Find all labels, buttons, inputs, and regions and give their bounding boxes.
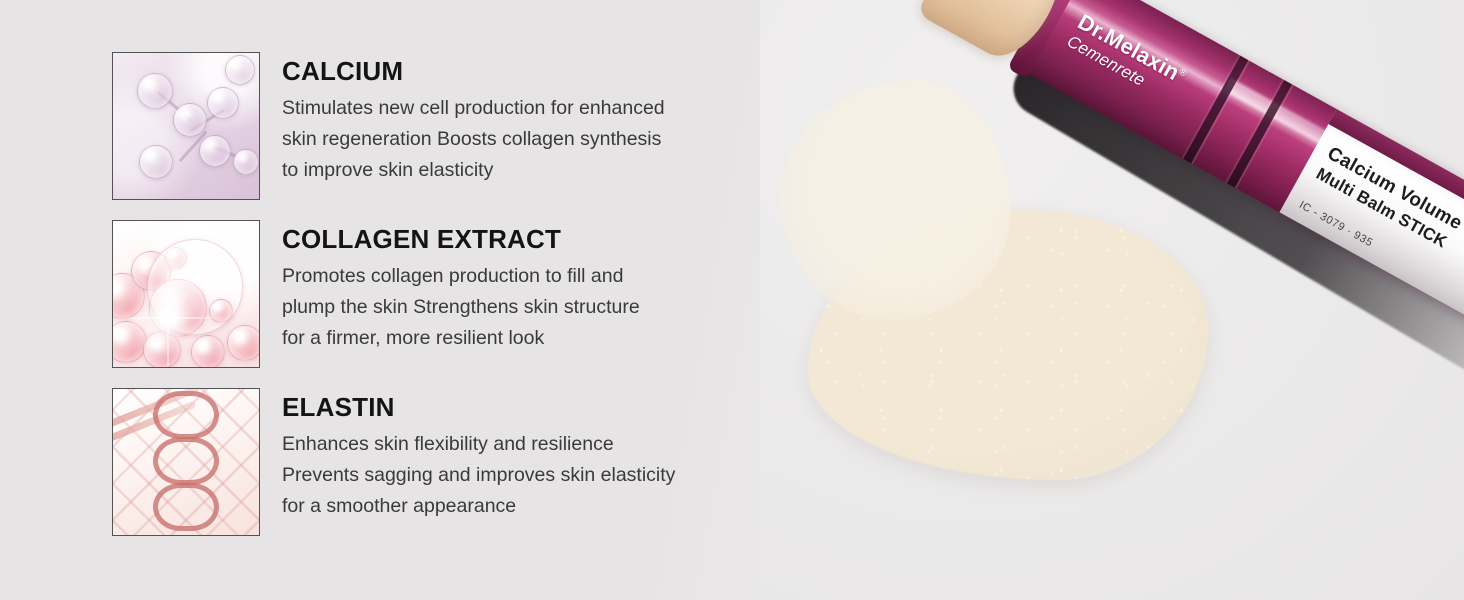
ingredient-item-calcium: CALCIUM Stimulates new cell production f… [112,52,772,200]
elastin-dna-helix-icon [113,389,259,535]
ingredient-thumbnail-collagen-extract [112,220,260,368]
ingredient-description: Enhances skin flexibility and resilience… [282,429,675,522]
calcium-molecule-bubbles-icon [113,53,259,199]
ingredient-item-elastin: ELASTIN Enhances skin flexibility and re… [112,388,772,536]
ingredient-description: Promotes collagen production to fill and… [282,261,640,354]
ingredient-title: ELASTIN [282,393,675,422]
ingredient-item-collagen-extract: COLLAGEN EXTRACT Promotes collagen produ… [112,220,772,368]
ingredient-text-elastin: ELASTIN Enhances skin flexibility and re… [260,388,675,522]
tube-brand-text: Dr.Melaxin® Cemenrete [1063,9,1190,108]
light-flare-icon [131,281,205,355]
ingredient-banner: CALCIUM Stimulates new cell production f… [0,0,1464,600]
ingredient-list: CALCIUM Stimulates new cell production f… [112,52,772,536]
ingredient-title: CALCIUM [282,57,665,86]
ingredient-thumbnail-calcium [112,52,260,200]
ingredient-text-calcium: CALCIUM Stimulates new cell production f… [260,52,665,186]
label-text: Calcium Volume Multi Balm STICK [1313,142,1464,254]
ingredient-title: COLLAGEN EXTRACT [282,225,640,254]
pink-collagen-bubbles-icon [113,221,259,367]
ingredient-description: Stimulates new cell production for enhan… [282,93,665,186]
ingredient-thumbnail-elastin [112,388,260,536]
product-photo: Dr.Melaxin® Cemenrete Calcium Volume Mul… [760,0,1464,600]
ingredient-text-collagen-extract: COLLAGEN EXTRACT Promotes collagen produ… [260,220,640,354]
